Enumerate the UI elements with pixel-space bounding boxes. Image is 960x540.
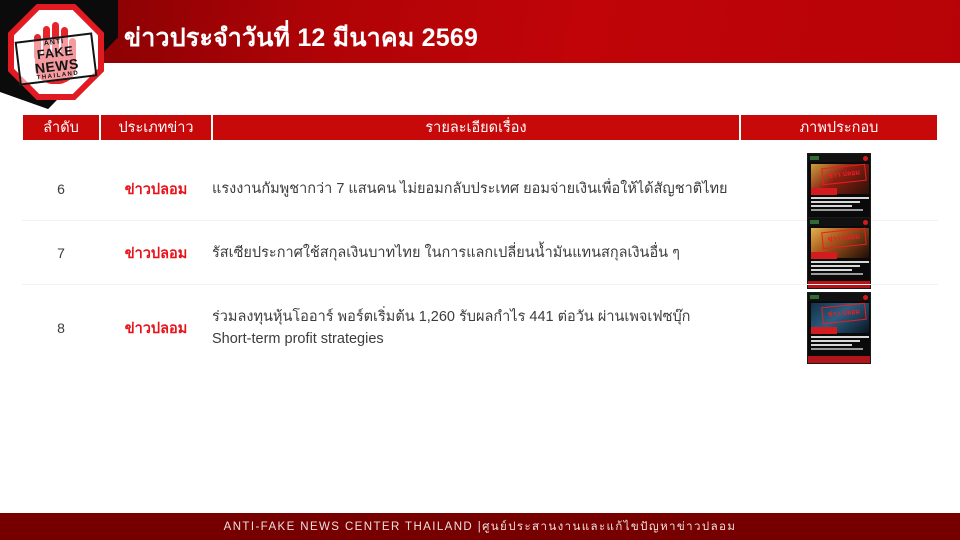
page-title: ข่าวประจำวันที่ 12 มีนาคม 2569 <box>124 18 478 58</box>
news-poster-thumbnail[interactable]: ข่าว ปลอม <box>807 292 871 364</box>
row-thumbnail-cell[interactable]: ข่าว ปลอม <box>740 217 938 289</box>
row-news-type: ข่าวปลอม <box>100 317 212 340</box>
poster-caption-lines <box>811 197 869 213</box>
poster-badge <box>811 188 837 195</box>
table-row: 8 ข่าวปลอม ร่วมลงทุนหุ้นโออาร์ พอร์ตเริ่… <box>22 290 938 366</box>
column-header-details: รายละเอียดเรื่อง <box>212 114 740 141</box>
row-detail: แรงงานกัมพูชากว่า 7 แสนคน ไม่ยอมกลับประเ… <box>212 178 740 200</box>
table-header-row: ลำดับ ประเภทข่าว รายละเอียดเรื่อง ภาพประ… <box>22 114 938 141</box>
column-header-image: ภาพประกอบ <box>740 114 938 141</box>
poster-topbar <box>808 293 870 301</box>
poster-logo-dot-icon <box>863 220 868 225</box>
row-news-type: ข่าวปลอม <box>100 178 212 201</box>
poster-footer-bar <box>808 356 870 363</box>
poster-topbar <box>808 218 870 226</box>
table-row: 6 ข่าวปลอม แรงงานกัมพูชากว่า 7 แสนคน ไม่… <box>22 158 938 220</box>
row-thumbnail-cell[interactable]: ข่าว ปลอม <box>740 153 938 225</box>
row-detail-line-1: แรงงานกัมพูชากว่า 7 แสนคน ไม่ยอมกลับประเ… <box>212 178 734 200</box>
column-header-news-type: ประเภทข่าว <box>100 114 212 141</box>
row-news-type: ข่าวปลอม <box>100 242 212 265</box>
row-detail-line-1: ร่วมลงทุนหุ้นโออาร์ พอร์ตเริ่มต้น 1,260 … <box>212 306 734 328</box>
table-row: 7 ข่าวปลอม รัสเซียประกาศใช้สกุลเงินบาทไท… <box>22 222 938 284</box>
slide-root: ANTI FAKE NEWS THAILAND ข่าวประจำวันที่ … <box>0 0 960 540</box>
poster-topbar <box>808 154 870 162</box>
footer-bar: ANTI-FAKE NEWS CENTER THAILAND |ศูนย์ประ… <box>0 513 960 540</box>
footer-text: ANTI-FAKE NEWS CENTER THAILAND |ศูนย์ประ… <box>224 518 737 536</box>
row-thumbnail-cell[interactable]: ข่าว ปลอม <box>740 292 938 364</box>
poster-logo-dot-icon <box>863 156 868 161</box>
row-order-number: 6 <box>22 181 100 197</box>
poster-badge <box>811 327 837 334</box>
news-poster-thumbnail[interactable]: ข่าว ปลอม <box>807 217 871 289</box>
news-poster-thumbnail[interactable]: ข่าว ปลอม <box>807 153 871 225</box>
row-detail: ร่วมลงทุนหุ้นโออาร์ พอร์ตเริ่มต้น 1,260 … <box>212 306 740 351</box>
poster-brand-tag-icon <box>810 156 819 160</box>
poster-badge <box>811 252 837 259</box>
row-order-number: 7 <box>22 245 100 261</box>
row-order-number: 8 <box>22 320 100 336</box>
anti-fake-news-logo: ANTI FAKE NEWS THAILAND <box>8 4 104 100</box>
poster-caption-lines <box>811 261 869 277</box>
poster-logo-dot-icon <box>863 295 868 300</box>
row-divider <box>22 284 938 285</box>
poster-brand-tag-icon <box>810 295 819 299</box>
column-header-order: ลำดับ <box>22 114 100 141</box>
row-detail: รัสเซียประกาศใช้สกุลเงินบาทไทย ในการแลกเ… <box>212 242 740 264</box>
poster-caption-lines <box>811 336 869 352</box>
row-detail-line-1: รัสเซียประกาศใช้สกุลเงินบาทไทย ในการแลกเ… <box>212 242 734 264</box>
poster-brand-tag-icon <box>810 220 819 224</box>
row-detail-line-2: Short-term profit strategies <box>212 328 734 350</box>
